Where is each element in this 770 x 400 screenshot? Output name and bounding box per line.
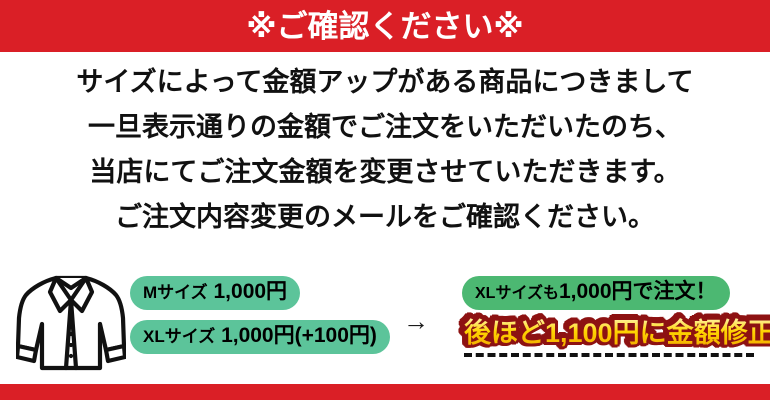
right-arrow-icon: →	[403, 308, 429, 334]
price-pill-xl-order-particle: も	[543, 285, 559, 302]
notice-line-3: 当店にてご注文金額を変更させていただきます。	[0, 150, 770, 195]
notice-line-4: ご注文内容変更のメールをご確認ください。	[0, 195, 770, 240]
price-pill-m-size: Mサイズ	[143, 283, 208, 302]
notice-line-1: サイズによって金額アップがある商品につきまして	[0, 60, 770, 105]
price-pill-xl: XLサイズ 1,000円(+100円)	[130, 320, 390, 354]
price-pill-xl-order: XLサイズも1,000円で注文！	[462, 276, 730, 310]
dashed-underline	[464, 353, 754, 357]
price-pill-xl-order-price: 1,000円で注文！	[559, 280, 717, 303]
footer-bar	[0, 384, 770, 400]
size-price-notice-banner: ※ご確認ください※ サイズによって金額アップがある商品につきまして 一旦表示通り…	[0, 0, 770, 400]
before-price-list: Mサイズ 1,000円 XLサイズ 1,000円(+100円)	[130, 276, 390, 354]
header-bar: ※ご確認ください※	[0, 0, 770, 52]
after-price-group: XLサイズも1,000円で注文！ 後ほど1,100円に金額修正	[462, 276, 770, 357]
price-comparison-area: Mサイズ 1,000円 XLサイズ 1,000円(+100円) → XLサイズも…	[0, 262, 770, 382]
notice-body: サイズによって金額アップがある商品につきまして 一旦表示通りの金額でご注文をいた…	[0, 60, 770, 240]
price-pill-xl-price: 1,000円(+100円)	[221, 324, 377, 347]
price-correction-note: 後ほど1,100円に金額修正	[462, 318, 770, 357]
price-pill-m: Mサイズ 1,000円	[130, 276, 300, 310]
price-pill-xl-size: XLサイズ	[143, 327, 215, 346]
page-title: ※ご確認ください※	[246, 11, 523, 42]
notice-line-2: 一旦表示通りの金額でご注文をいただいたのち、	[0, 105, 770, 150]
price-correction-text: 後ほど1,100円に金額修正	[464, 318, 770, 348]
price-pill-xl-order-size: XLサイズ	[475, 285, 543, 302]
dress-shirt-icon	[16, 268, 126, 376]
price-pill-m-price: 1,000円	[214, 280, 288, 303]
